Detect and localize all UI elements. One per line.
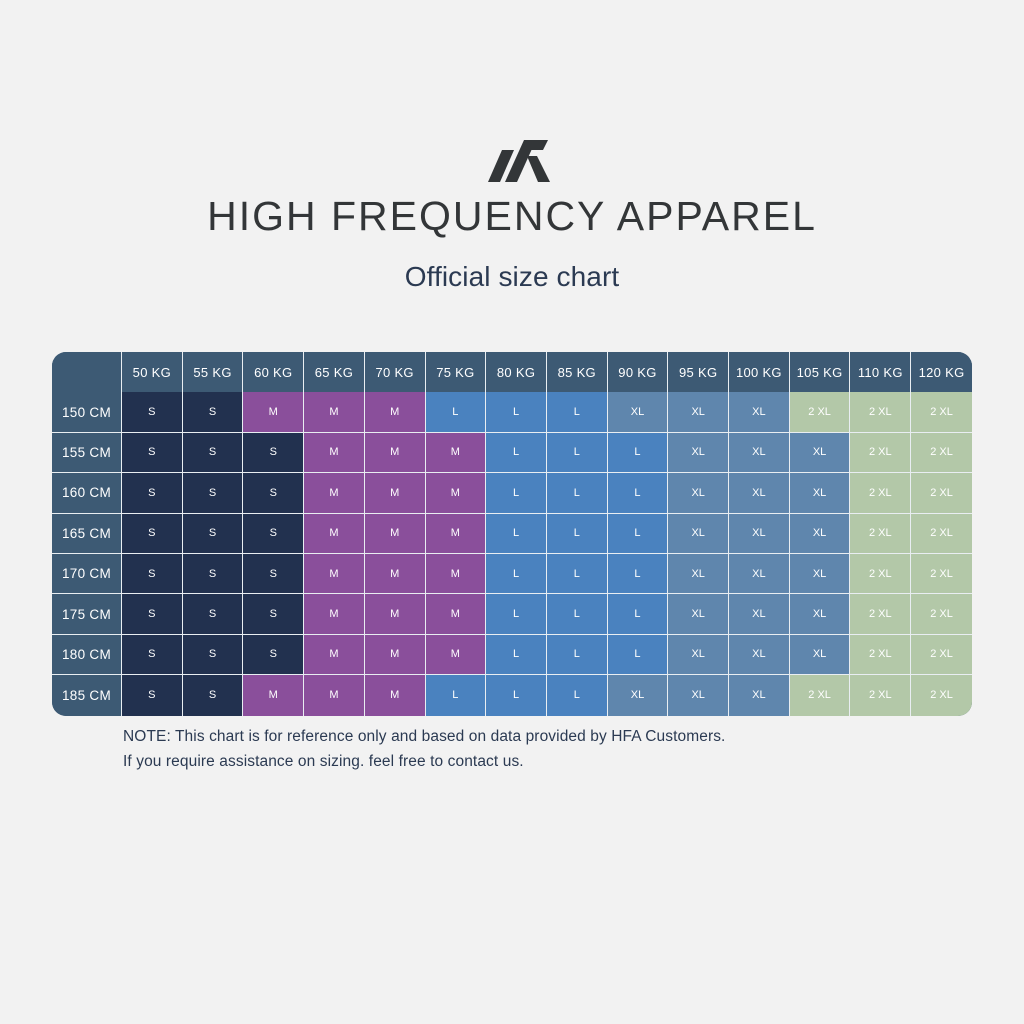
size-cell: 2 XL <box>911 554 972 594</box>
size-cell: 2 XL <box>790 675 851 715</box>
size-cell: XL <box>668 594 729 634</box>
size-cell: S <box>243 554 304 594</box>
note-block: NOTE: This chart is for reference only a… <box>123 724 725 774</box>
size-cell: XL <box>729 675 790 715</box>
row-header-height: 170 CM <box>52 554 122 594</box>
size-cell: 2 XL <box>850 594 911 634</box>
size-cell: XL <box>729 514 790 554</box>
size-cell: M <box>304 554 365 594</box>
size-cell: M <box>365 473 426 513</box>
size-cell: M <box>365 554 426 594</box>
size-cell: L <box>608 594 669 634</box>
row-header-height: 175 CM <box>52 594 122 634</box>
size-cell: L <box>486 594 547 634</box>
size-cell: 2 XL <box>850 554 911 594</box>
size-cell: XL <box>729 554 790 594</box>
size-cell: XL <box>729 392 790 432</box>
hfa-monogram-icon <box>0 136 1024 182</box>
size-cell: 2 XL <box>850 433 911 473</box>
size-cell: XL <box>608 392 669 432</box>
size-cell: S <box>122 433 183 473</box>
size-cell: L <box>486 675 547 715</box>
size-cell: XL <box>668 635 729 675</box>
size-cell: M <box>304 675 365 715</box>
size-cell: L <box>486 473 547 513</box>
size-cell: XL <box>668 392 729 432</box>
table-row: 165 CMSSSMMMLLLXLXLXL2 XL2 XL <box>52 514 972 554</box>
size-cell: XL <box>668 473 729 513</box>
size-cell: L <box>426 675 487 715</box>
size-cell: M <box>426 554 487 594</box>
size-cell: M <box>426 635 487 675</box>
size-cell: XL <box>668 554 729 594</box>
size-cell: 2 XL <box>850 514 911 554</box>
note-line-1: NOTE: This chart is for reference only a… <box>123 724 725 749</box>
note-line-2: If you require assistance on sizing. fee… <box>123 749 725 774</box>
size-cell: M <box>365 433 426 473</box>
column-header-weight: 90 KG <box>608 352 669 392</box>
size-cell: S <box>122 392 183 432</box>
size-cell: S <box>183 675 244 715</box>
table-row: 170 CMSSSMMMLLLXLXLXL2 XL2 XL <box>52 554 972 594</box>
row-header-height: 160 CM <box>52 473 122 513</box>
size-cell: 2 XL <box>911 392 972 432</box>
size-cell: XL <box>790 594 851 634</box>
size-cell: L <box>486 635 547 675</box>
size-cell: L <box>547 675 608 715</box>
size-cell: M <box>426 514 487 554</box>
size-cell: XL <box>790 473 851 513</box>
row-header-height: 185 CM <box>52 675 122 715</box>
size-cell: S <box>183 433 244 473</box>
column-header-weight: 105 KG <box>790 352 851 392</box>
size-cell: L <box>486 433 547 473</box>
size-cell: S <box>122 594 183 634</box>
row-header-height: 165 CM <box>52 514 122 554</box>
page-title: HIGH FREQUENCY APPAREL <box>0 196 1024 237</box>
size-cell: L <box>547 594 608 634</box>
size-cell: M <box>304 635 365 675</box>
size-cell: M <box>365 514 426 554</box>
size-chart-table: 50 KG55 KG60 KG65 KG70 KG75 KG80 KG85 KG… <box>52 352 972 716</box>
table-row: 185 CMSSMMMLLLXLXLXL2 XL2 XL2 XL <box>52 675 972 715</box>
size-cell: 2 XL <box>850 392 911 432</box>
size-cell: S <box>183 473 244 513</box>
column-header-weight: 110 KG <box>850 352 911 392</box>
header-block: HIGH FREQUENCY APPAREL Official size cha… <box>0 0 1024 291</box>
size-cell: 2 XL <box>911 514 972 554</box>
column-header-weight: 55 KG <box>183 352 244 392</box>
table-row: 155 CMSSSMMMLLLXLXLXL2 XL2 XL <box>52 433 972 473</box>
size-cell: S <box>122 675 183 715</box>
size-cell: 2 XL <box>911 473 972 513</box>
column-header-weight: 70 KG <box>365 352 426 392</box>
chart-subtitle: Official size chart <box>0 263 1024 291</box>
column-header-weight: 80 KG <box>486 352 547 392</box>
size-cell: S <box>183 635 244 675</box>
column-header-weight: 65 KG <box>304 352 365 392</box>
size-cell: XL <box>729 473 790 513</box>
size-cell: L <box>486 514 547 554</box>
size-cell: M <box>243 675 304 715</box>
size-cell: M <box>426 433 487 473</box>
size-chart-container: 50 KG55 KG60 KG65 KG70 KG75 KG80 KG85 KG… <box>52 352 972 716</box>
size-cell: M <box>365 392 426 432</box>
size-cell: M <box>304 473 365 513</box>
size-cell: XL <box>790 635 851 675</box>
size-cell: 2 XL <box>911 675 972 715</box>
size-cell: L <box>486 392 547 432</box>
size-cell: M <box>426 594 487 634</box>
size-cell: L <box>426 392 487 432</box>
table-corner-cell <box>52 352 122 392</box>
size-cell: S <box>122 554 183 594</box>
size-cell: S <box>183 392 244 432</box>
size-cell: M <box>304 514 365 554</box>
size-cell: M <box>304 433 365 473</box>
size-cell: 2 XL <box>850 675 911 715</box>
column-header-weight: 120 KG <box>911 352 972 392</box>
table-row: 160 CMSSSMMMLLLXLXLXL2 XL2 XL <box>52 473 972 513</box>
size-cell: XL <box>790 433 851 473</box>
size-cell: XL <box>668 433 729 473</box>
size-cell: L <box>608 433 669 473</box>
column-header-weight: 95 KG <box>668 352 729 392</box>
size-cell: S <box>183 594 244 634</box>
table-row: 175 CMSSSMMMLLLXLXLXL2 XL2 XL <box>52 594 972 634</box>
size-cell: L <box>608 635 669 675</box>
size-cell: S <box>183 554 244 594</box>
size-cell: M <box>365 594 426 634</box>
size-cell: L <box>608 514 669 554</box>
size-cell: 2 XL <box>850 635 911 675</box>
size-cell: XL <box>668 675 729 715</box>
size-cell: L <box>547 635 608 675</box>
size-cell: 2 XL <box>911 594 972 634</box>
size-cell: L <box>608 473 669 513</box>
size-cell: L <box>547 514 608 554</box>
size-cell: L <box>547 554 608 594</box>
size-cell: XL <box>790 554 851 594</box>
size-cell: L <box>486 554 547 594</box>
size-cell: L <box>547 392 608 432</box>
size-cell: 2 XL <box>850 473 911 513</box>
size-cell: 2 XL <box>911 635 972 675</box>
size-cell: S <box>243 514 304 554</box>
row-header-height: 180 CM <box>52 635 122 675</box>
size-cell: XL <box>668 514 729 554</box>
row-header-height: 150 CM <box>52 392 122 432</box>
size-cell: M <box>304 594 365 634</box>
size-cell: 2 XL <box>911 433 972 473</box>
table-row: 180 CMSSSMMMLLLXLXLXL2 XL2 XL <box>52 635 972 675</box>
size-cell: S <box>183 514 244 554</box>
size-cell: S <box>122 473 183 513</box>
size-cell: XL <box>729 594 790 634</box>
size-cell: S <box>122 514 183 554</box>
size-cell: 2 XL <box>790 392 851 432</box>
size-cell: M <box>365 635 426 675</box>
size-cell: XL <box>790 514 851 554</box>
row-header-height: 155 CM <box>52 433 122 473</box>
column-header-weight: 60 KG <box>243 352 304 392</box>
size-cell: XL <box>729 635 790 675</box>
size-cell: S <box>122 635 183 675</box>
size-cell: M <box>426 473 487 513</box>
column-header-weight: 85 KG <box>547 352 608 392</box>
size-cell: S <box>243 433 304 473</box>
column-header-weight: 75 KG <box>426 352 487 392</box>
size-cell: M <box>304 392 365 432</box>
size-cell: XL <box>608 675 669 715</box>
size-chart-header-row: 50 KG55 KG60 KG65 KG70 KG75 KG80 KG85 KG… <box>52 352 972 392</box>
table-row: 150 CMSSMMMLLLXLXLXL2 XL2 XL2 XL <box>52 392 972 432</box>
size-cell: L <box>547 433 608 473</box>
size-cell: L <box>608 554 669 594</box>
size-cell: M <box>365 675 426 715</box>
size-cell: M <box>243 392 304 432</box>
size-cell: S <box>243 473 304 513</box>
size-cell: S <box>243 635 304 675</box>
size-cell: S <box>243 594 304 634</box>
column-header-weight: 100 KG <box>729 352 790 392</box>
size-cell: L <box>547 473 608 513</box>
size-chart-body: 150 CMSSMMMLLLXLXLXL2 XL2 XL2 XL155 CMSS… <box>52 392 972 715</box>
size-cell: XL <box>729 433 790 473</box>
column-header-weight: 50 KG <box>122 352 183 392</box>
